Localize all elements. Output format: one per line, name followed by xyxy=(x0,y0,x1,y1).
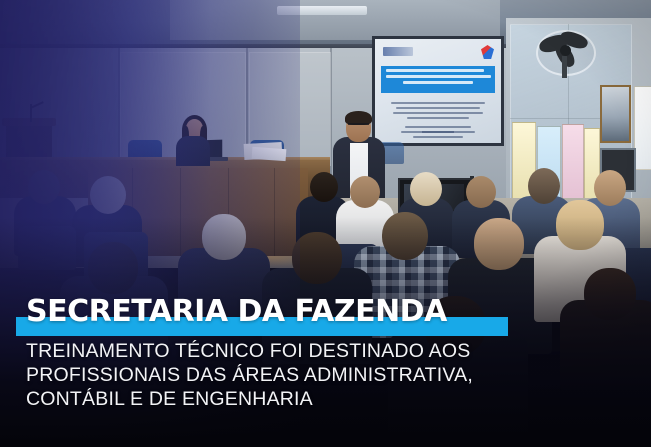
subtitle-line-3: CONTÁBIL E DE ENGENHARIA xyxy=(26,387,473,411)
news-banner: SECRETARIA DA FAZENDA TREINAMENTO TÉCNIC… xyxy=(0,0,651,447)
caption-block: SECRETARIA DA FAZENDA TREINAMENTO TÉCNIC… xyxy=(0,287,651,447)
subtitle: TREINAMENTO TÉCNICO FOI DESTINADO AOS PR… xyxy=(26,339,473,411)
page-title: SECRETARIA DA FAZENDA xyxy=(26,293,447,331)
headline-wrap: SECRETARIA DA FAZENDA xyxy=(0,295,651,339)
subtitle-line-2: PROFISSIONAIS DAS ÁREAS ADMINISTRATIVA, xyxy=(26,363,473,387)
subtitle-line-1: TREINAMENTO TÉCNICO FOI DESTINADO AOS xyxy=(26,339,473,363)
